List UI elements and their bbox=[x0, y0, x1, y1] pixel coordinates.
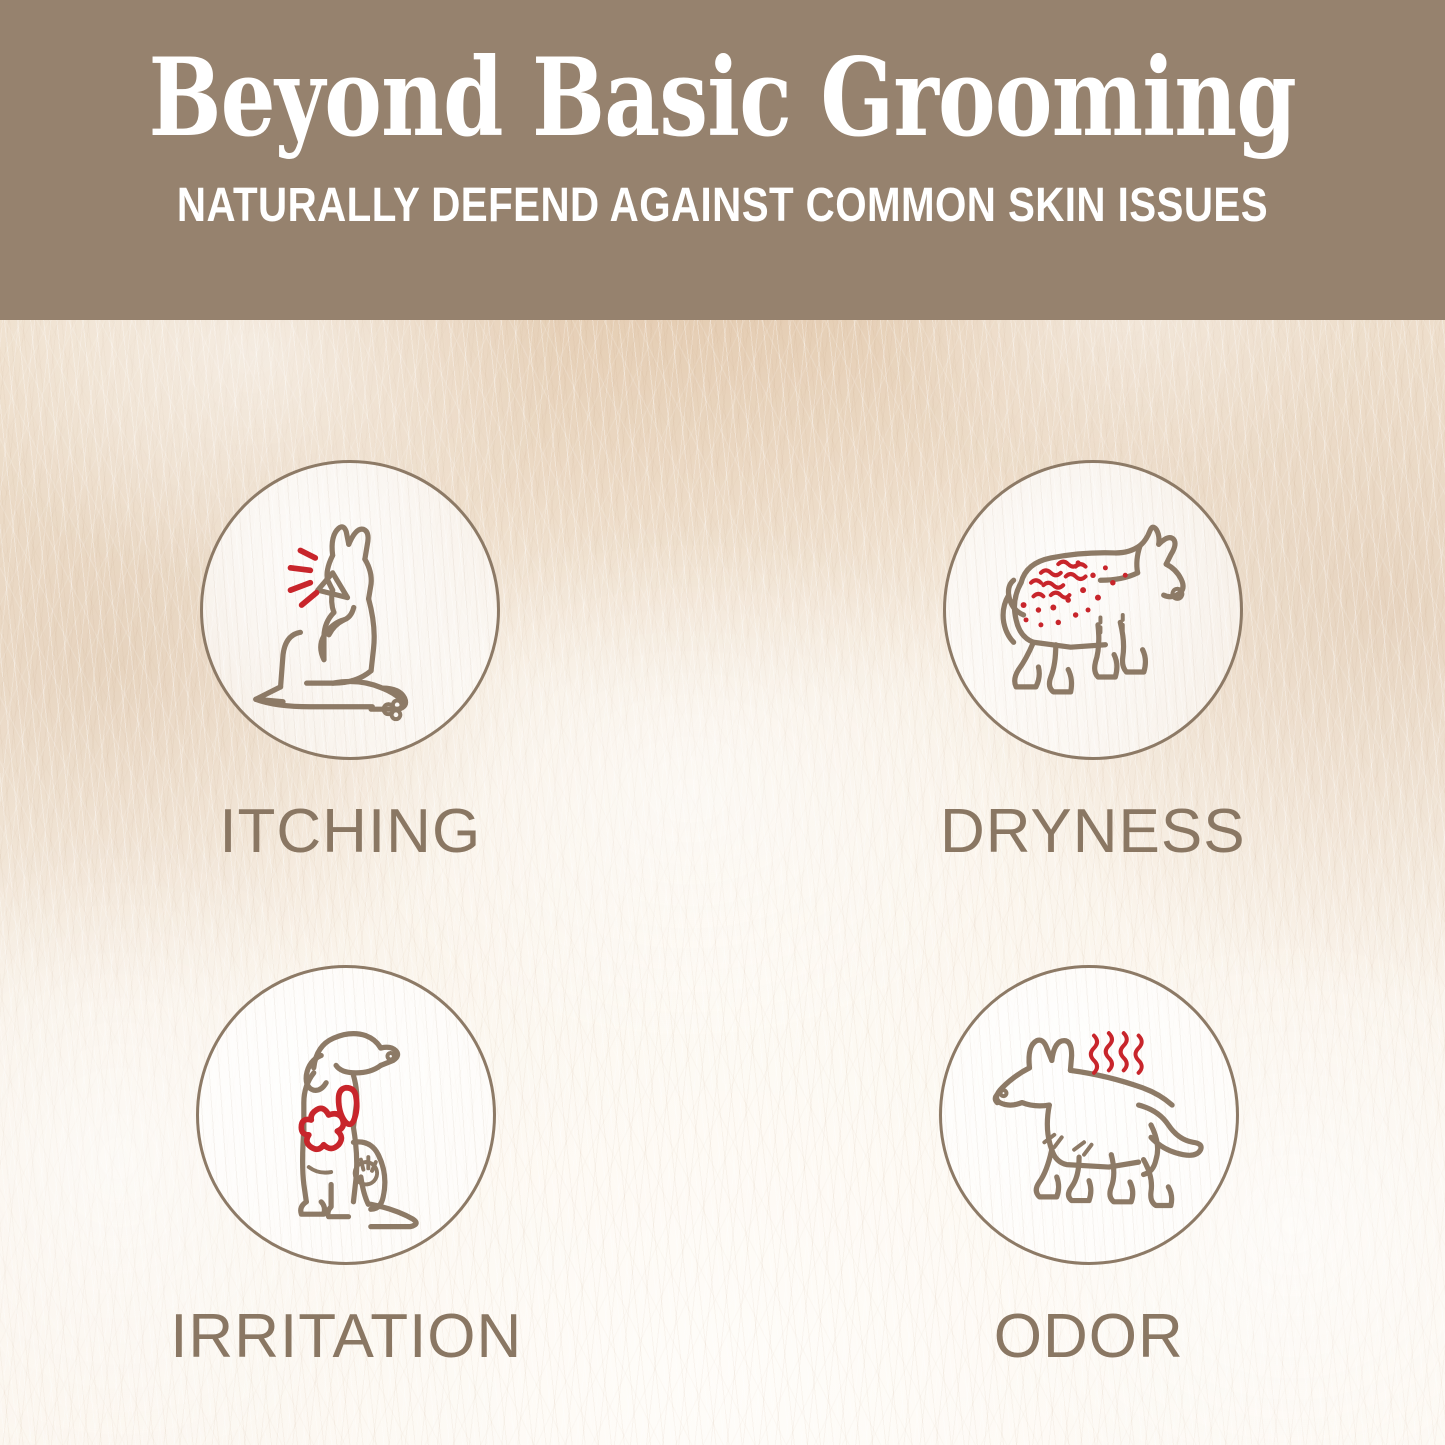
grid-item-odor: ODOR bbox=[723, 883, 1445, 1445]
grid-item-dryness: DRYNESS bbox=[723, 320, 1445, 883]
grid-item-irritation: IRRITATION bbox=[0, 883, 723, 1445]
badge-irritation bbox=[196, 965, 496, 1265]
page-subtitle: NATURALLY DEFEND AGAINST COMMON SKIN ISS… bbox=[177, 178, 1268, 233]
badge-dryness bbox=[943, 460, 1243, 760]
dog-irritated-skin-icon bbox=[222, 991, 470, 1239]
grid-item-itching: ITCHING bbox=[0, 320, 723, 883]
badge-label-itching: ITCHING bbox=[219, 796, 481, 867]
skin-issues-grid: ITCHING bbox=[0, 320, 1445, 1445]
header-banner: Beyond Basic Grooming NATURALLY DEFEND A… bbox=[0, 0, 1445, 320]
dog-flaky-skin-icon bbox=[969, 486, 1217, 734]
dog-odor-icon bbox=[965, 991, 1213, 1239]
badge-label-irritation: IRRITATION bbox=[170, 1301, 522, 1372]
badge-label-odor: ODOR bbox=[994, 1301, 1184, 1372]
badge-odor-icon-wrap bbox=[939, 965, 1239, 1265]
badge-label-dryness: DRYNESS bbox=[940, 796, 1246, 867]
page-title: Beyond Basic Grooming bbox=[149, 44, 1297, 152]
dog-scratching-icon bbox=[226, 486, 474, 734]
badge-itching bbox=[200, 460, 500, 760]
infographic-poster: Beyond Basic Grooming NATURALLY DEFEND A… bbox=[0, 0, 1445, 1445]
